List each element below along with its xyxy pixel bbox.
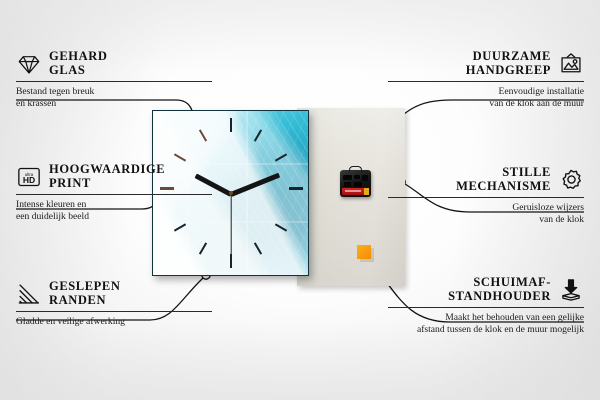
callout-desc-line1: Geruisloze wijzers bbox=[388, 202, 584, 214]
battery bbox=[342, 188, 369, 195]
callout-title: DUURZAME HANDGREEP bbox=[466, 50, 551, 77]
movement-slot-2 bbox=[354, 175, 360, 179]
diamond-icon bbox=[16, 51, 42, 77]
quartz-movement bbox=[340, 170, 371, 197]
gear-icon bbox=[558, 167, 584, 193]
callout-desc-line2: van de klok bbox=[388, 214, 584, 226]
movement-slot-1 bbox=[343, 175, 352, 180]
foam-spacer bbox=[357, 245, 371, 259]
callout-title-line2: RANDEN bbox=[49, 294, 121, 308]
callout-title-line1: HOOGWAARDIGE bbox=[49, 163, 165, 177]
callout-description: Intense kleuren en een duidelijk beeld bbox=[16, 199, 212, 222]
callout-divider bbox=[16, 311, 212, 312]
callout-divider bbox=[16, 81, 212, 82]
movement-hanger bbox=[349, 166, 362, 172]
callout-title: GEHARD GLAS bbox=[49, 50, 107, 77]
callout-desc-line1: Intense kleuren en bbox=[16, 199, 212, 211]
callout-desc-line1: Bestand tegen breuk bbox=[16, 86, 212, 98]
callout-divider bbox=[388, 197, 584, 198]
battery-label bbox=[345, 190, 361, 192]
callout-title: GESLEPEN RANDEN bbox=[49, 280, 121, 307]
callout-desc-line2: van de klok aan de muur bbox=[388, 98, 584, 110]
ultra-hd-icon: ultra HD bbox=[16, 164, 42, 190]
callout-desc-line1: Maakt het behouden van een gelijke bbox=[388, 312, 584, 324]
movement-slot-5 bbox=[354, 182, 362, 187]
callout-header: STILLE MECHANISME bbox=[388, 166, 584, 193]
callout-desc-line1: Eenvoudige installatie bbox=[388, 86, 584, 98]
callout-divider bbox=[388, 307, 584, 308]
callout-header: GEHARD GLAS bbox=[16, 50, 212, 77]
callout-title-line2: HANDGREEP bbox=[466, 64, 551, 78]
callout-title-line2: MECHANISME bbox=[456, 180, 551, 194]
clock-hub bbox=[229, 191, 233, 195]
movement-slot-3 bbox=[362, 175, 368, 181]
callout-description: Geruisloze wijzers van de klok bbox=[388, 202, 584, 225]
callout-header: ultra HD HOOGWAARDIGE PRINT bbox=[16, 163, 212, 190]
callout-description: Eenvoudige installatie van de klok aan d… bbox=[388, 86, 584, 109]
callout-desc-line2: een duidelijk beeld bbox=[16, 211, 212, 223]
callout-desc-line2: en krassen bbox=[16, 98, 212, 110]
clock-tick-6 bbox=[230, 254, 232, 268]
clock-tick-12 bbox=[230, 118, 232, 132]
callout-title-line1: GEHARD bbox=[49, 50, 107, 64]
callout-desc-line1: Gladde en veilige afwerking bbox=[16, 316, 212, 328]
callout-schuimafstandhouder[interactable]: SCHUIMAF- STANDHOUDER Maakt het behouden… bbox=[388, 276, 584, 335]
clock-tick-3 bbox=[289, 187, 303, 190]
callout-title-line1: GESLEPEN bbox=[49, 280, 121, 294]
beveled-edges-icon bbox=[16, 281, 42, 307]
callout-duurzame-handgreep[interactable]: DUURZAME HANDGREEP Eenvoudige installati… bbox=[388, 50, 584, 109]
callout-stille-mechanisme[interactable]: STILLE MECHANISME Geruisloze wijzers van… bbox=[388, 166, 584, 225]
infographic-canvas: GEHARD GLAS Bestand tegen breuk en krass… bbox=[0, 0, 600, 400]
callout-divider bbox=[16, 194, 212, 195]
callout-title: STILLE MECHANISME bbox=[456, 166, 551, 193]
callout-divider bbox=[388, 81, 584, 82]
callout-header: SCHUIMAF- STANDHOUDER bbox=[388, 276, 584, 303]
picture-frame-icon bbox=[558, 51, 584, 77]
callout-title-line1: DUURZAME bbox=[466, 50, 551, 64]
callout-desc-line2: afstand tussen de klok en de muur mogeli… bbox=[388, 324, 584, 336]
callout-description: Bestand tegen breuk en krassen bbox=[16, 86, 212, 109]
callout-header: DUURZAME HANDGREEP bbox=[388, 50, 584, 77]
callout-title-line2: GLAS bbox=[49, 64, 107, 78]
callout-gehard-glas[interactable]: GEHARD GLAS Bestand tegen breuk en krass… bbox=[16, 50, 212, 109]
clock-second-hand bbox=[230, 194, 231, 256]
callout-title: HOOGWAARDIGE PRINT bbox=[49, 163, 165, 190]
callout-header: GESLEPEN RANDEN bbox=[16, 280, 212, 307]
ultra-hd-icon-large-text: HD bbox=[23, 175, 35, 185]
callout-title-line2: PRINT bbox=[49, 177, 165, 191]
callout-description: Gladde en veilige afwerking bbox=[16, 316, 212, 328]
callout-geslepen-randen[interactable]: GESLEPEN RANDEN Gladde en veilige afwerk… bbox=[16, 280, 212, 328]
callout-hoogwaardige-print[interactable]: ultra HD HOOGWAARDIGE PRINT Intense kleu… bbox=[16, 163, 212, 222]
callout-title-line2: STANDHOUDER bbox=[448, 290, 551, 304]
callout-description: Maakt het behouden van een gelijke afsta… bbox=[388, 312, 584, 335]
callout-title-line1: STILLE bbox=[456, 166, 551, 180]
battery-plus-terminal bbox=[364, 188, 369, 195]
movement-slot-4 bbox=[344, 182, 351, 187]
callout-title-line1: SCHUIMAF- bbox=[448, 276, 551, 290]
callout-title: SCHUIMAF- STANDHOUDER bbox=[448, 276, 551, 303]
press-pad-icon bbox=[558, 277, 584, 303]
